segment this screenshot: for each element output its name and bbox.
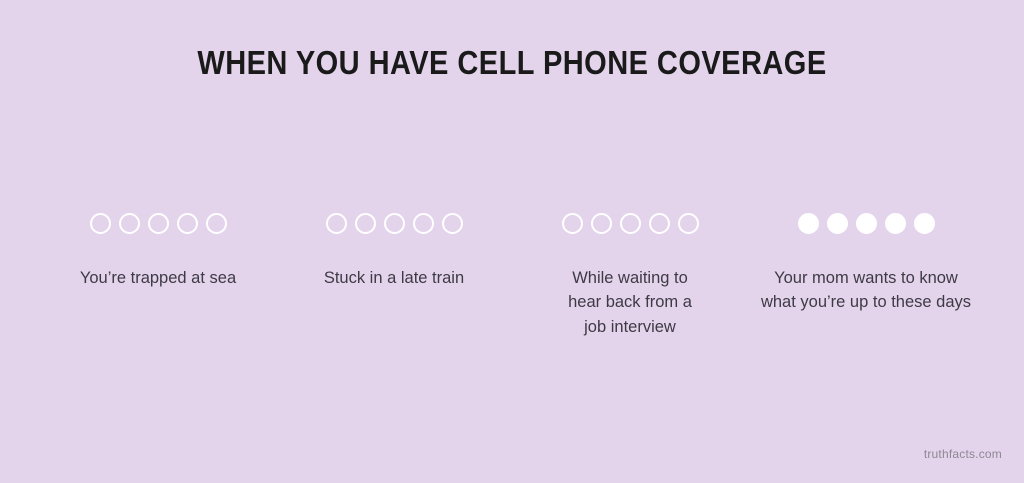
signal-dot-filled-icon [827,213,848,234]
signal-dot-empty-icon [177,213,198,234]
page-title: WHEN YOU HAVE CELL PHONE COVERAGE [61,44,962,82]
caption-line: hear back from a [568,290,692,314]
signal-dot-filled-icon [885,213,906,234]
signal-dots-group-4 [798,206,935,240]
signal-dot-empty-icon [591,213,612,234]
coverage-column-2: Stuck in a late train [276,206,512,290]
source-watermark: truthfacts.com [924,447,1002,461]
signal-dot-empty-icon [90,213,111,234]
signal-dot-empty-icon [119,213,140,234]
coverage-caption-2: Stuck in a late train [324,266,464,290]
caption-line: Stuck in a late train [324,266,464,290]
signal-dot-empty-icon [562,213,583,234]
signal-dots-group-2 [326,206,463,240]
coverage-caption-3: While waiting to hear back from a job in… [568,266,692,339]
caption-line: While waiting to [568,266,692,290]
caption-line: job interview [568,315,692,339]
coverage-caption-1: You’re trapped at sea [80,266,236,290]
caption-line: Your mom wants to know [761,266,971,290]
signal-dot-empty-icon [442,213,463,234]
signal-dots-group-1 [90,206,227,240]
coverage-column-3: While waiting to hear back from a job in… [512,206,748,339]
coverage-column-1: You’re trapped at sea [40,206,276,290]
coverage-columns: You’re trapped at sea Stuck in a late tr… [40,206,984,339]
signal-dot-empty-icon [649,213,670,234]
signal-dot-empty-icon [148,213,169,234]
signal-dot-empty-icon [326,213,347,234]
coverage-caption-4: Your mom wants to know what you’re up to… [761,266,971,315]
signal-dot-filled-icon [914,213,935,234]
signal-dot-empty-icon [620,213,641,234]
signal-dot-empty-icon [206,213,227,234]
infographic-canvas: WHEN YOU HAVE CELL PHONE COVERAGE You’re… [0,0,1024,483]
signal-dot-empty-icon [678,213,699,234]
coverage-column-4: Your mom wants to know what you’re up to… [748,206,984,315]
signal-dot-filled-icon [798,213,819,234]
signal-dot-empty-icon [384,213,405,234]
caption-line: You’re trapped at sea [80,266,236,290]
caption-line: what you’re up to these days [761,290,971,314]
signal-dot-filled-icon [856,213,877,234]
signal-dot-empty-icon [413,213,434,234]
signal-dots-group-3 [562,206,699,240]
signal-dot-empty-icon [355,213,376,234]
